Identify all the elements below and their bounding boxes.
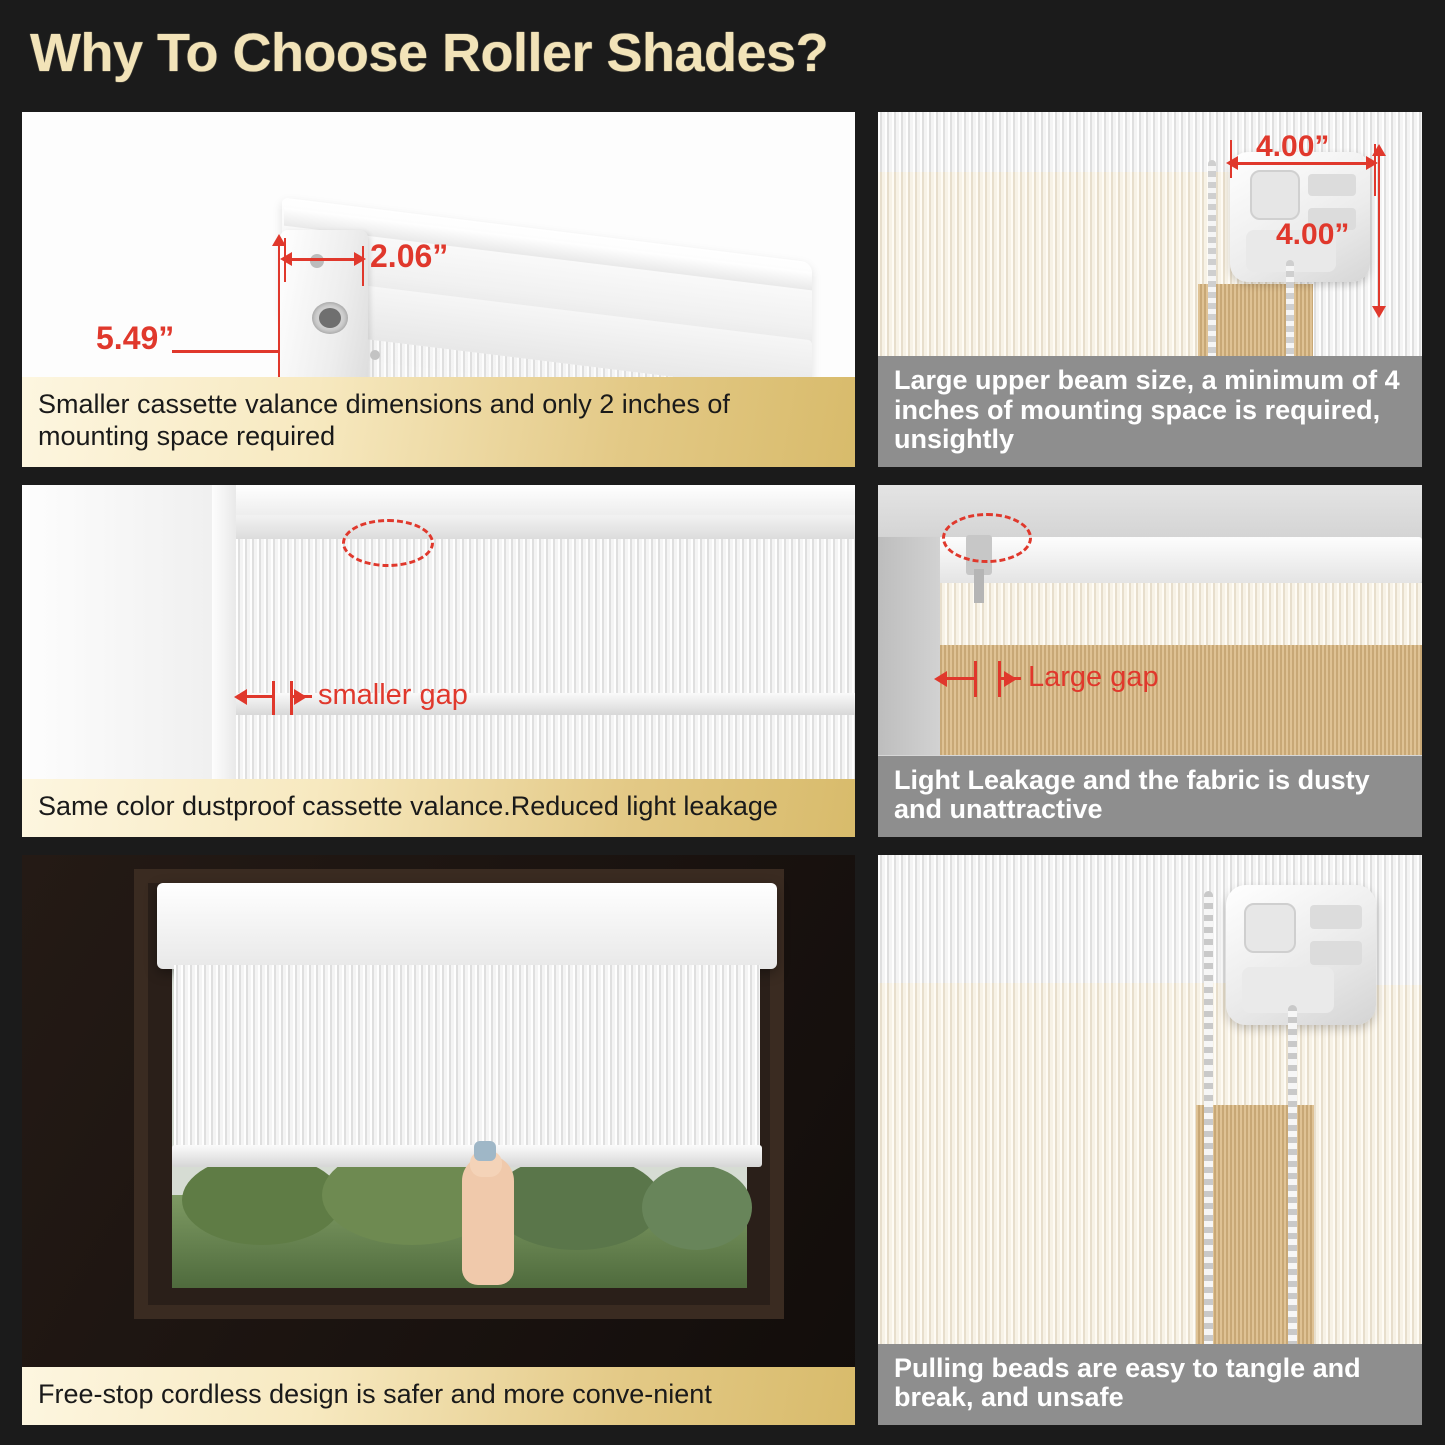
gap-label: smaller gap [318, 679, 468, 712]
infographic-page: Why To Choose Roller Shades? [0, 0, 1445, 1445]
card-2-image: 4.00” 4.00” Large upper beam size, a min… [878, 112, 1422, 467]
card-row-1: 2.06” 5.49” Smaller cassette valance dim… [22, 112, 1422, 467]
dim-width-line [286, 258, 364, 261]
card-3: smaller gap Same color dustproof cassett… [22, 485, 855, 837]
page-title: Why To Choose Roller Shades? [30, 22, 828, 84]
card-2-caption: Large upper beam size, a minimum of 4 in… [878, 356, 1422, 467]
card-5-image: Free-stop cordless design is safer and m… [22, 855, 855, 1425]
card-1-caption: Smaller cassette valance dimensions and … [22, 377, 855, 467]
card-5-caption: Free-stop cordless design is safer and m… [22, 1367, 855, 1425]
card-4-image: Large gap Light Leakage and the fabric i… [878, 485, 1422, 837]
highlight-ellipse [942, 513, 1032, 563]
dim-height-label: 5.49” [96, 320, 174, 357]
card-3-image: smaller gap Same color dustproof cassett… [22, 485, 855, 837]
dim-width-label: 2.06” [370, 238, 448, 275]
highlight-ellipse [342, 519, 434, 567]
card-6: Pulling beads are easy to tangle and bre… [878, 855, 1422, 1425]
card-grid: 2.06” 5.49” Smaller cassette valance dim… [22, 112, 1422, 1443]
card-5: Free-stop cordless design is safer and m… [22, 855, 855, 1425]
card-6-image: Pulling beads are easy to tangle and bre… [878, 855, 1422, 1425]
card-row-2: smaller gap Same color dustproof cassett… [22, 485, 1422, 837]
card-4: Large gap Light Leakage and the fabric i… [878, 485, 1422, 837]
dim-height-label: 4.00” [1276, 218, 1349, 252]
gap-label: Large gap [1028, 661, 1159, 694]
card-4-caption: Light Leakage and the fabric is dusty an… [878, 756, 1422, 837]
dim-width-label: 4.00” [1256, 130, 1329, 164]
card-3-caption: Same color dustproof cassette valance.Re… [22, 779, 855, 837]
card-row-3: Free-stop cordless design is safer and m… [22, 855, 1422, 1425]
card-6-caption: Pulling beads are easy to tangle and bre… [878, 1344, 1422, 1425]
card-1: 2.06” 5.49” Smaller cassette valance dim… [22, 112, 855, 467]
card-1-image: 2.06” 5.49” Smaller cassette valance dim… [22, 112, 855, 467]
card-2: 4.00” 4.00” Large upper beam size, a min… [878, 112, 1422, 467]
